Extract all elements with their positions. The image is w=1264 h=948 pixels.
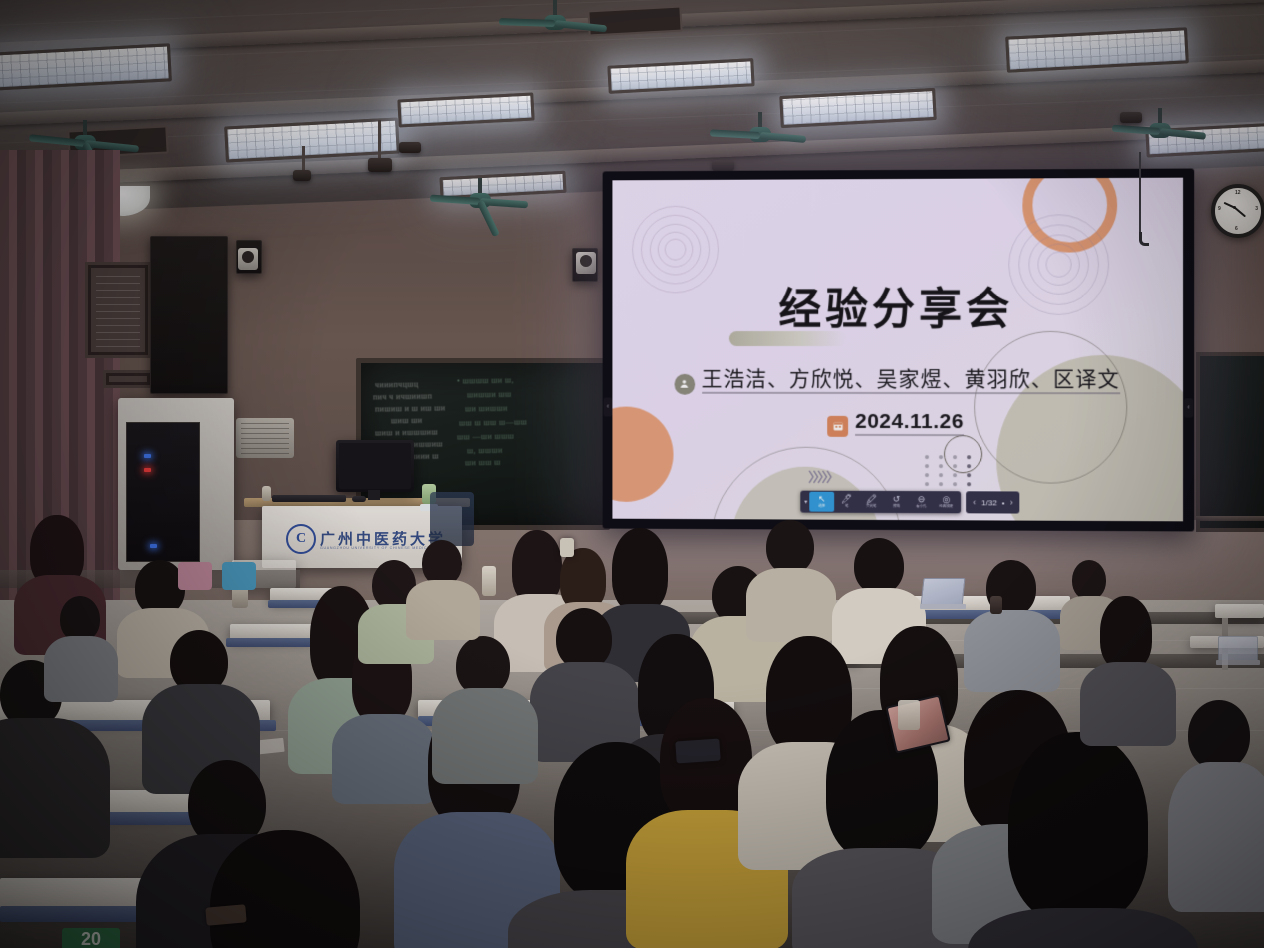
hanging-cable: [1139, 152, 1141, 236]
water-bottle: [990, 596, 1002, 614]
more-options-icon: ◎: [943, 495, 951, 504]
projector: [712, 160, 734, 171]
slide-byline: 王浩洁、方欣悦、吴家煜、黄羽欣、区译文: [702, 368, 1120, 394]
wall-notice-frame: [85, 262, 151, 358]
pointer-icon: ↖: [818, 495, 826, 504]
podium-keyboard: [272, 495, 346, 502]
ceiling-fan: [430, 178, 530, 224]
projection-screen[interactable]: 经验分享会 王浩洁、方欣悦、吴家煜、黄羽欣、区译文: [603, 169, 1195, 532]
person-icon: [674, 373, 695, 394]
wall-sign-small: [103, 370, 153, 388]
rack-glass-door: [126, 422, 200, 562]
monitor-stand: [368, 490, 380, 500]
projector: [1120, 112, 1142, 123]
chalk-text-right: ш, шшши: [467, 445, 503, 457]
rack-led-red: [144, 468, 151, 472]
pen-icon: 🖊: [841, 495, 852, 504]
ppt-undo-tool[interactable]: ↺ 撤销: [884, 492, 909, 512]
screen-left-tab-button[interactable]: ‹: [604, 398, 613, 417]
handheld-phone[interactable]: [205, 904, 246, 925]
presentation-slide: 经验分享会 王浩洁、方欣悦、吴家煜、黄羽欣、区译文: [612, 178, 1183, 522]
cable-hook: [1139, 232, 1149, 246]
av-equipment-rack: [118, 398, 234, 570]
calendar-icon: [827, 415, 848, 436]
bottle: [262, 486, 271, 501]
stool: [222, 562, 256, 590]
ceiling-fan: [500, 0, 610, 46]
slide-counter: 1/32: [981, 498, 997, 507]
drink-cup: [898, 700, 920, 730]
ppt-page-nav[interactable]: ‹ 1/32 • ›: [966, 491, 1020, 513]
stool: [178, 562, 212, 590]
rack-led-blue: [144, 454, 151, 458]
handheld-phone[interactable]: [560, 538, 574, 557]
chalk-tray: [1196, 516, 1264, 521]
chalk-text-left: чииипчцшц: [375, 379, 419, 391]
projector: [368, 158, 392, 172]
projector-stem: [302, 146, 305, 172]
projector: [293, 170, 311, 181]
ppt-highlighter-tool[interactable]: 🖍 荧光笔: [859, 492, 884, 512]
chalk-text-right: шш ш шш ш—шш: [459, 416, 527, 428]
security-camera: [576, 252, 596, 274]
desk-front-edge: [226, 638, 318, 647]
screen-display[interactable]: 经验分享会 王浩洁、方欣悦、吴家煜、黄羽欣、区译文: [612, 178, 1183, 522]
chalk-text-right: • шшшш ши ш,: [457, 375, 514, 387]
chevron-down-icon[interactable]: ▾: [802, 498, 809, 505]
slide-title: 经验分享会: [612, 274, 1183, 337]
screen-right-tab-button[interactable]: ‹: [1184, 398, 1193, 417]
undo-icon: ↺: [893, 495, 901, 504]
wall-speaker: [150, 236, 228, 394]
chalk-text-left: шиш и ишшшиш: [375, 426, 438, 438]
security-camera: [238, 248, 258, 270]
chevron-decoration: 〉〉〉〉〉: [808, 467, 837, 486]
chalk-text-right: шш —ши шшш: [457, 431, 514, 443]
air-conditioner: [236, 418, 294, 458]
classroom-scene: чииипчцшц пич ч ичшиишп пишиш и ш иш ши …: [0, 0, 1264, 948]
seat-number-tag: 20: [62, 928, 120, 948]
ceiling-fan: [710, 112, 810, 158]
presenter-chair: [430, 492, 474, 546]
projector-stem: [378, 120, 381, 160]
student-laptop[interactable]: [922, 578, 966, 610]
chalk-text-left: шиш ши: [391, 415, 423, 427]
dot-grid-decoration: [925, 455, 976, 486]
deco-circle-outline: [974, 331, 1127, 484]
student-desk: [1215, 604, 1264, 618]
highlighter-icon: 🖍: [866, 495, 877, 504]
deco-ring: [665, 239, 687, 261]
university-emblem: C: [286, 524, 316, 554]
podium-monitor: [336, 440, 414, 492]
chalk-text-left: пич ч ичшиишп: [373, 390, 432, 402]
podium-mouse: [352, 496, 366, 502]
slide-dot-icon[interactable]: •: [1002, 498, 1005, 507]
handheld-phone[interactable]: [675, 738, 720, 763]
ppt-presenter-toolbar[interactable]: ▾ ↖ 选择 🖊 笔 🖍 荧光笔: [800, 491, 1019, 514]
prev-slide-icon[interactable]: ‹: [973, 497, 976, 507]
student-laptop[interactable]: [1218, 636, 1260, 666]
chalk-text-right: шишши шш: [467, 389, 512, 401]
chalk-text-right: ши шш ш: [465, 457, 501, 469]
ppt-tool-group[interactable]: ▾ ↖ 选择 🖊 笔 🖍 荧光笔: [800, 491, 961, 514]
chalk-text-right: ши шишши: [465, 403, 508, 415]
blackboard-right: [1196, 352, 1264, 532]
ppt-pointer-tool[interactable]: ↖ 选择: [809, 492, 834, 512]
ppt-zoom-out-tool[interactable]: ⊖ 看小孔: [909, 492, 934, 512]
zoom-out-icon: ⊖: [918, 495, 926, 504]
water-bottle: [482, 566, 496, 596]
rack-led-blue: [150, 544, 157, 548]
next-slide-icon[interactable]: ›: [1010, 497, 1013, 507]
chalk-text-left: пишиш и ш иш ши: [375, 402, 446, 414]
ppt-more-tool[interactable]: ◎ 经典放映: [934, 492, 959, 512]
projector: [399, 142, 421, 153]
slide-date-row: 2024.11.26: [612, 410, 1183, 438]
wall-clock: 12 3 6 9: [1211, 184, 1264, 238]
slide-date: 2024.11.26: [855, 410, 964, 436]
ppt-pen-tool[interactable]: 🖊 笔: [834, 492, 859, 512]
slide-byline-row: 王浩洁、方欣悦、吴家煜、黄羽欣、区译文: [612, 363, 1183, 395]
university-name-en: GUANGZHOU UNIVERSITY OF CHINESE MEDICINE: [320, 546, 435, 550]
